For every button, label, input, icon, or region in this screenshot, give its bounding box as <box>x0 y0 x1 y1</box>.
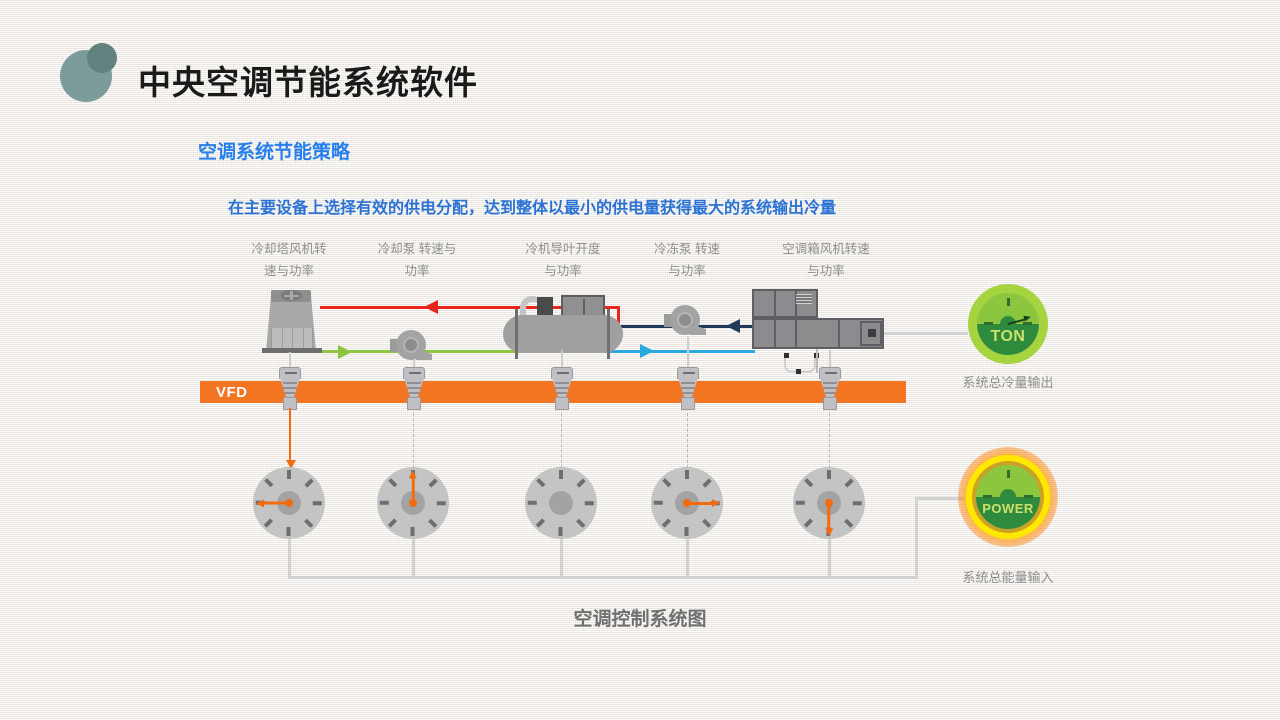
gauge-chiller-vane-motor[interactable] <box>525 467 597 539</box>
caption-total-cooling-output: 系统总冷量输出 <box>938 372 1078 391</box>
arrow-chilled-supply <box>640 344 654 358</box>
indicator-total-cooling-output[interactable]: TON <box>968 284 1048 364</box>
gauge-cooling-pump-motor[interactable] <box>377 467 449 539</box>
slide-canvas: 中央空调节能系统软件 空调系统节能策略 在主要设备上选择有效的供电分配，达到整体… <box>0 0 1280 720</box>
chiller-unit <box>503 293 623 355</box>
arrow-chilled-return <box>726 319 740 333</box>
gauge-needle <box>828 503 831 529</box>
vfd-label: VFD <box>216 384 248 401</box>
vfd-drive-2[interactable] <box>403 367 425 411</box>
link-drive-5-gauge <box>829 408 830 468</box>
chilled-water-pump <box>670 305 708 339</box>
gauge-ahu-fan-motor[interactable] <box>793 467 865 539</box>
link-drive-1-gauge <box>289 408 291 460</box>
power-value-label: POWER <box>958 501 1058 516</box>
pipe-chilled-supply <box>600 350 755 353</box>
bus-drop-2 <box>412 539 415 578</box>
caption-total-energy-input: 系统总能量输入 <box>938 567 1078 586</box>
figure-caption: 空调控制系统图 <box>0 604 1280 631</box>
bus-drop-1 <box>288 539 291 578</box>
bus-drop-4 <box>686 539 689 578</box>
chiller-shell <box>503 315 623 353</box>
cooling-tower-base <box>262 348 322 353</box>
bus-horizontal <box>288 576 918 579</box>
air-handling-unit <box>752 289 884 351</box>
ton-value-label: TON <box>968 328 1048 346</box>
ahu-upper-section <box>752 289 818 318</box>
link-drive-3-gauge <box>561 408 562 468</box>
ahu-vent-icon <box>796 294 812 304</box>
cooling-tower-fan-icon <box>281 290 302 301</box>
vfd-drive-4[interactable] <box>677 367 699 411</box>
stem-chilled-pump <box>687 337 689 370</box>
vfd-drive-3[interactable] <box>551 367 573 411</box>
bus-riser <box>915 497 918 579</box>
link-drive-4-gauge <box>687 408 688 468</box>
indicator-total-energy-input[interactable]: POWER <box>958 447 1058 547</box>
cooling-water-pump <box>396 330 434 364</box>
cooling-tower <box>262 288 320 358</box>
gauge-chilled-pump-motor[interactable] <box>651 467 723 539</box>
vfd-drive-5[interactable] <box>819 367 841 411</box>
link-drive-2-gauge <box>413 408 414 468</box>
arrow-condenser-return <box>424 300 438 314</box>
power-face <box>976 465 1040 529</box>
vfd-drive-1[interactable] <box>279 367 301 411</box>
gauge-cooling-tower-fan-motor[interactable] <box>253 467 325 539</box>
bus-drop-5 <box>828 539 831 578</box>
arrow-condenser-supply <box>338 345 352 359</box>
ahu-control-panel <box>860 321 882 346</box>
cooling-tower-louver <box>271 328 313 348</box>
bus-drop-3 <box>560 539 563 578</box>
pipe-cooling-output <box>884 332 968 335</box>
